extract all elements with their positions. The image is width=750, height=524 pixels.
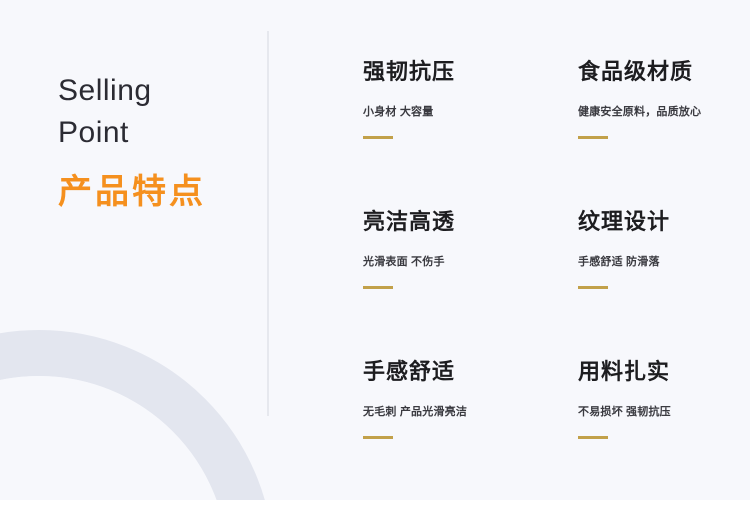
feature-title: 亮洁高透 <box>363 208 578 236</box>
feature-subtitle: 光滑表面 不伤手 <box>363 254 578 270</box>
feature-item: 亮洁高透 光滑表面 不伤手 <box>363 208 578 358</box>
selling-point-banner: Selling Point 产品特点 强韧抗压 小身材 大容量 食品级材质 健康… <box>0 0 750 524</box>
vertical-divider <box>267 31 269 416</box>
decorative-ring-shape <box>0 330 274 500</box>
feature-title: 食品级材质 <box>578 58 735 86</box>
feature-underline-rule <box>578 286 608 289</box>
feature-subtitle: 健康安全原料，品质放心 <box>578 104 735 120</box>
feature-title: 用料扎实 <box>578 358 735 386</box>
feature-underline-rule <box>363 436 393 439</box>
title-chinese: 产品特点 <box>58 170 258 214</box>
feature-item: 纹理设计 手感舒适 防滑落 <box>578 208 735 358</box>
content-panel: Selling Point 产品特点 强韧抗压 小身材 大容量 食品级材质 健康… <box>0 0 750 500</box>
feature-subtitle: 不易损坏 强韧抗压 <box>578 404 735 420</box>
title-block: Selling Point 产品特点 <box>58 70 258 214</box>
decorative-ring-inner-fill <box>0 376 228 500</box>
feature-underline-rule <box>578 436 608 439</box>
feature-subtitle: 无毛刺 产品光滑亮洁 <box>363 404 578 420</box>
feature-item: 食品级材质 健康安全原料，品质放心 <box>578 58 735 208</box>
feature-title: 强韧抗压 <box>363 58 578 86</box>
feature-item: 用料扎实 不易损坏 强韧抗压 <box>578 358 735 500</box>
feature-item: 手感舒适 无毛刺 产品光滑亮洁 <box>363 358 578 500</box>
feature-underline-rule <box>578 136 608 139</box>
feature-grid: 强韧抗压 小身材 大容量 食品级材质 健康安全原料，品质放心 亮洁高透 光滑表面… <box>363 58 735 500</box>
feature-item: 强韧抗压 小身材 大容量 <box>363 58 578 208</box>
feature-subtitle: 手感舒适 防滑落 <box>578 254 735 270</box>
feature-title: 手感舒适 <box>363 358 578 386</box>
feature-underline-rule <box>363 136 393 139</box>
feature-subtitle: 小身材 大容量 <box>363 104 578 120</box>
title-english: Selling Point <box>58 70 258 154</box>
feature-title: 纹理设计 <box>578 208 735 236</box>
feature-underline-rule <box>363 286 393 289</box>
